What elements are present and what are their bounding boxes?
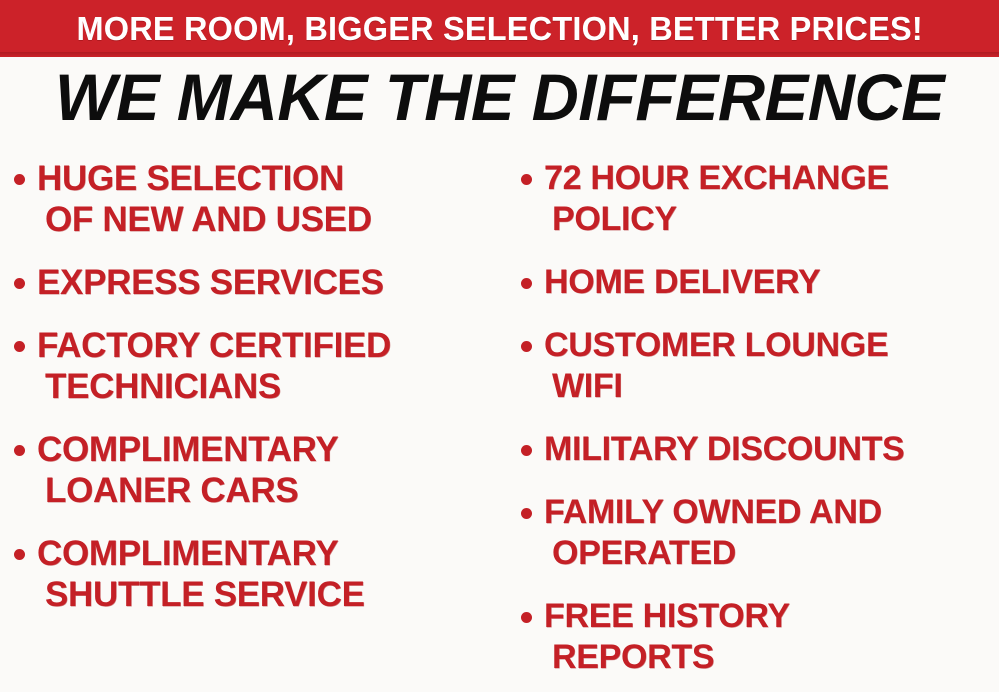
list-item-text: COMPLIMENTARY SHUTTLE SERVICE xyxy=(37,533,365,615)
list-item-text: HOME DELIVERY xyxy=(544,262,820,303)
benefits-column-left: HUGE SELECTION OF NEW AND USED EXPRESS S… xyxy=(0,158,505,692)
list-item: HUGE SELECTION OF NEW AND USED xyxy=(14,158,505,240)
list-item-line-1: 72 HOUR EXCHANGE xyxy=(544,159,889,197)
list-item: COMPLIMENTARY LOANER CARS xyxy=(14,429,505,511)
list-item: 72 HOUR EXCHANGE POLICY xyxy=(521,158,999,240)
list-item-line-1: COMPLIMENTARY xyxy=(37,430,338,469)
list-item: FACTORY CERTIFIED TECHNICIANS xyxy=(14,325,505,407)
list-item-line-1: HOME DELIVERY xyxy=(544,263,820,301)
banner-headline-text: MORE ROOM, BIGGER SELECTION, BETTER PRIC… xyxy=(76,12,922,45)
list-item-line-1: FAMILY OWNED AND xyxy=(544,493,882,531)
list-item: CUSTOMER LOUNGE WIFI xyxy=(521,325,999,407)
list-item-text: 72 HOUR EXCHANGE POLICY xyxy=(544,158,889,240)
list-item: FREE HISTORY REPORTS xyxy=(521,596,999,678)
bullet-dot-icon xyxy=(14,278,25,289)
top-banner: MORE ROOM, BIGGER SELECTION, BETTER PRIC… xyxy=(0,0,999,57)
bullet-dot-icon xyxy=(521,612,532,623)
list-item-line-2: REPORTS xyxy=(544,637,790,678)
list-item-line-1: COMPLIMENTARY xyxy=(37,534,338,573)
bullet-dot-icon xyxy=(521,174,532,185)
list-item-line-2: OF NEW AND USED xyxy=(37,199,372,240)
list-item-text: MILITARY DISCOUNTS xyxy=(544,429,904,470)
list-item: MILITARY DISCOUNTS xyxy=(521,429,999,470)
bullet-dot-icon xyxy=(521,445,532,456)
list-item-line-2: LOANER CARS xyxy=(37,470,338,511)
list-item-line-1: FREE HISTORY xyxy=(544,597,790,635)
list-item-line-1: FACTORY CERTIFIED xyxy=(37,326,391,365)
list-item: COMPLIMENTARY SHUTTLE SERVICE xyxy=(14,533,505,615)
list-item-text: FAMILY OWNED AND OPERATED xyxy=(544,492,882,574)
list-item-line-1: MILITARY DISCOUNTS xyxy=(544,430,904,468)
list-item-line-1: EXPRESS SERVICES xyxy=(37,263,384,302)
list-item-line-1: CUSTOMER LOUNGE xyxy=(544,326,888,364)
list-item-line-2: WIFI xyxy=(544,366,888,407)
list-item-text: EXPRESS SERVICES xyxy=(37,262,384,303)
list-item-line-2: OPERATED xyxy=(544,533,882,574)
promo-poster: MORE ROOM, BIGGER SELECTION, BETTER PRIC… xyxy=(0,0,999,692)
list-item-text: CUSTOMER LOUNGE WIFI xyxy=(544,325,888,407)
bullet-dot-icon xyxy=(521,508,532,519)
benefits-column-right: 72 HOUR EXCHANGE POLICY HOME DELIVERY CU… xyxy=(505,158,999,692)
list-item-line-1: HUGE SELECTION xyxy=(37,159,344,198)
list-item-text: FACTORY CERTIFIED TECHNICIANS xyxy=(37,325,391,407)
list-item: HOME DELIVERY xyxy=(521,262,999,303)
bullet-dot-icon xyxy=(14,445,25,456)
bullet-dot-icon xyxy=(14,174,25,185)
list-item-line-2: TECHNICIANS xyxy=(37,366,391,407)
bullet-dot-icon xyxy=(14,549,25,560)
list-item-text: COMPLIMENTARY LOANER CARS xyxy=(37,429,338,511)
list-item: EXPRESS SERVICES xyxy=(14,262,505,303)
bullet-dot-icon xyxy=(521,341,532,352)
list-item-line-2: SHUTTLE SERVICE xyxy=(37,574,365,615)
list-item-text: FREE HISTORY REPORTS xyxy=(544,596,790,678)
list-item-text: HUGE SELECTION OF NEW AND USED xyxy=(37,158,372,240)
page-title: WE MAKE THE DIFFERENCE xyxy=(5,63,994,131)
list-item: FAMILY OWNED AND OPERATED xyxy=(521,492,999,574)
bullet-dot-icon xyxy=(521,278,532,289)
benefits-columns: HUGE SELECTION OF NEW AND USED EXPRESS S… xyxy=(0,158,999,692)
list-item-line-2: POLICY xyxy=(544,199,889,240)
bullet-dot-icon xyxy=(14,341,25,352)
